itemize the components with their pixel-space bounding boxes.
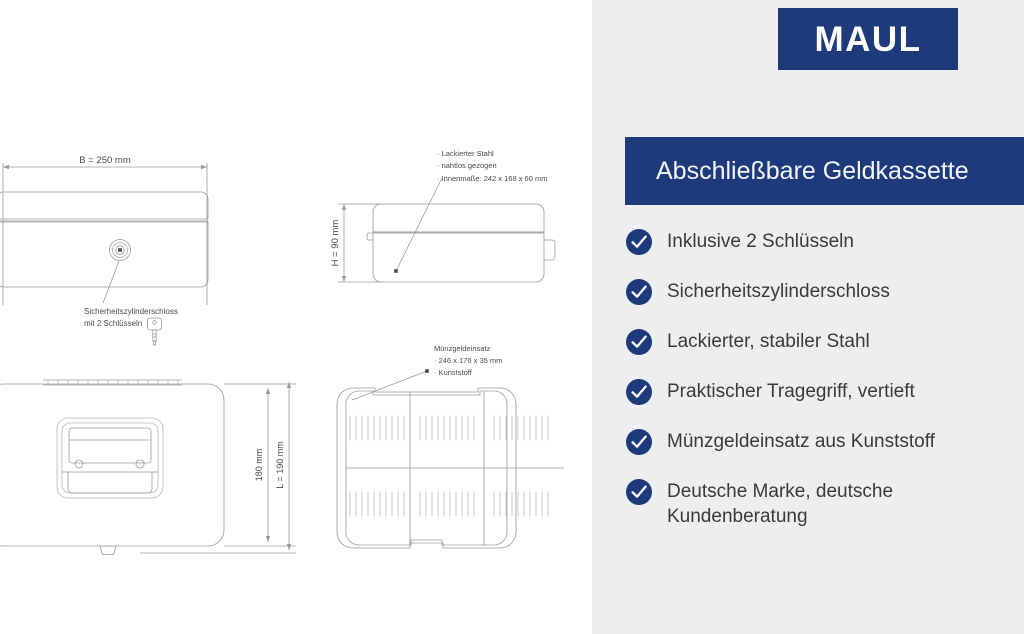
feature-label: Lackierter, stabiler Stahl [667, 328, 870, 354]
side-callout-line1: · Lackierter Stahl [437, 149, 494, 158]
check-circle-icon [625, 478, 653, 506]
side-height-dimension-label: H = 90 mm [330, 220, 341, 267]
feature-item: Sicherheitszylinderschloss [625, 278, 1024, 306]
feature-item: Münzgeldeinsatz aus Kunststoff [625, 428, 1024, 456]
feature-label: Inklusive 2 Schlüsseln [667, 228, 854, 254]
feature-item: Deutsche Marke, deutsche Kundenberatung [625, 478, 1024, 529]
check-circle-icon [625, 328, 653, 356]
lock-callout-line2: mit 2 Schlüsseln [84, 319, 142, 328]
tray-callout-line2: · 246 x 176 x 35 mm [434, 356, 502, 365]
side-callout-line2: · nahtlos gezogen [437, 161, 497, 170]
feature-item: Inklusive 2 Schlüsseln [625, 228, 1024, 256]
maul-logo-text: MAUL [814, 22, 921, 57]
feature-item: Lackierter, stabiler Stahl [625, 328, 1024, 356]
side-view-callout: · Lackierter Stahl · nahtlos gezogen · I… [437, 148, 587, 185]
product-title: Abschließbare Geldkassette [625, 157, 969, 186]
lock-callout: Sicherheitszylinderschloss mit 2 Schlüss… [84, 306, 254, 330]
top-outer-depth-label: L = 190 mm [275, 441, 285, 488]
front-width-dimension-label: B = 250 mm [79, 155, 131, 166]
coin-tray-callout: Münzgeldeinsatz · 246 x 176 x 35 mm · Ku… [434, 343, 584, 379]
check-circle-icon [625, 378, 653, 406]
side-callout-line3: · Innenmaße: 242 x 168 x 60 mm [437, 174, 547, 183]
check-circle-icon [625, 428, 653, 456]
feature-label: Praktischer Tragegriff, vertieft [667, 378, 915, 404]
feature-label: Münzgeldeinsatz aus Kunststoff [667, 428, 935, 454]
feature-list: Inklusive 2 SchlüsselnSicherheitszylinde… [625, 228, 1024, 529]
feature-item: Praktischer Tragegriff, vertieft [625, 378, 1024, 406]
lock-callout-line1: Sicherheitszylinderschloss [84, 307, 178, 316]
lock-cylinder-icon [110, 240, 131, 261]
top-view-drawing: 180 mm L = 190 mm [0, 360, 310, 570]
product-infographic: B = 250 mm Sicherheitszylinderschloss mi… [0, 0, 1024, 634]
product-title-banner: Abschließbare Geldkassette [625, 137, 1024, 205]
top-inner-depth-label: 180 mm [254, 449, 264, 482]
maul-logo: MAUL [778, 8, 958, 70]
tray-callout-line3: · Kunststoff [434, 368, 472, 377]
key-icon [146, 316, 168, 355]
check-circle-icon [625, 278, 653, 306]
technical-drawings-panel: B = 250 mm Sicherheitszylinderschloss mi… [0, 0, 592, 634]
feature-label: Deutsche Marke, deutsche Kundenberatung [667, 478, 893, 529]
check-circle-icon [625, 228, 653, 256]
carry-handle [57, 418, 163, 498]
feature-label: Sicherheitszylinderschloss [667, 278, 890, 304]
tray-callout-title: Münzgeldeinsatz [434, 344, 490, 353]
